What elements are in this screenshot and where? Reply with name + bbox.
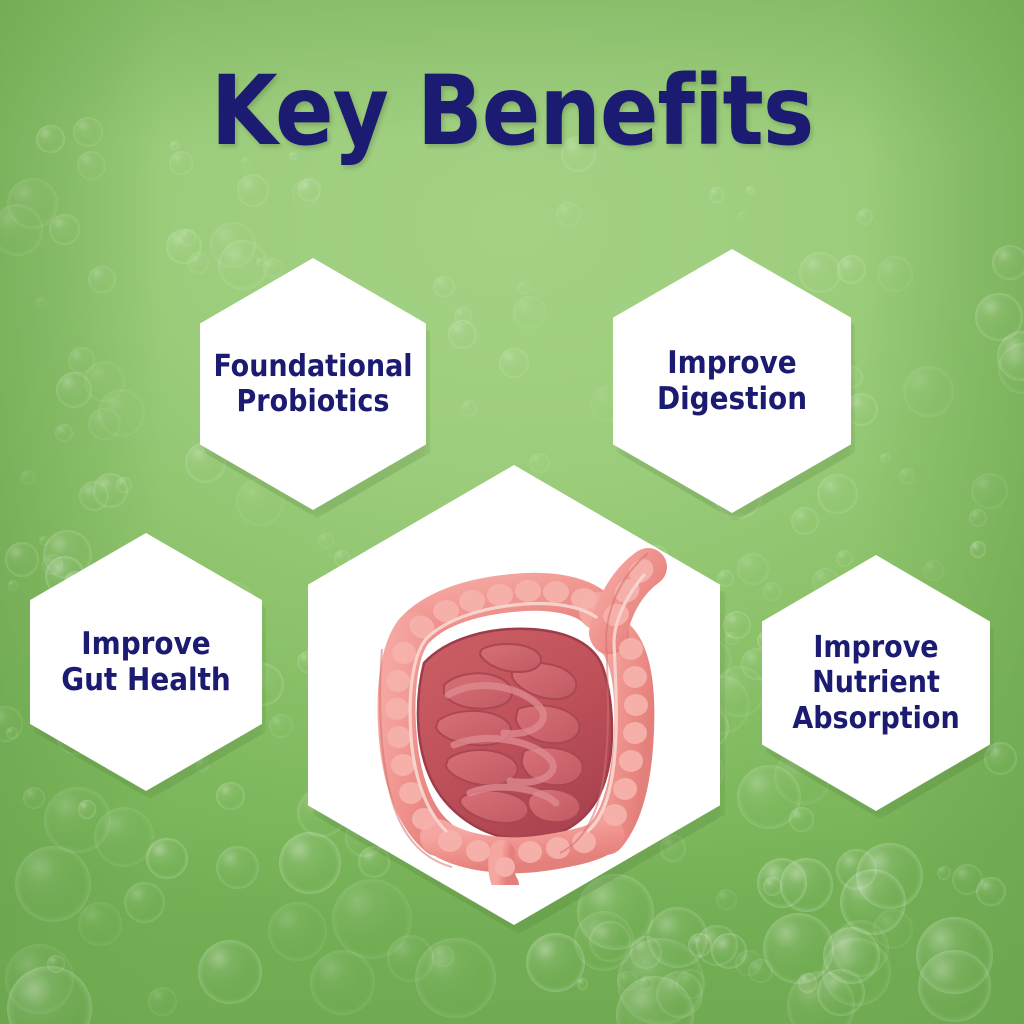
bubble xyxy=(817,474,858,515)
bubble xyxy=(88,266,115,293)
bubble xyxy=(23,787,44,808)
bubble xyxy=(817,969,865,1017)
bubble xyxy=(975,293,1022,340)
bubble xyxy=(499,348,529,378)
bubble xyxy=(837,255,866,284)
bubble xyxy=(877,256,913,292)
bubble xyxy=(318,533,334,549)
bubble xyxy=(857,209,873,225)
bubble xyxy=(116,477,132,493)
bubble xyxy=(166,229,202,265)
bubble xyxy=(763,582,782,601)
benefit-label-improve-gut-health: Improve Gut Health xyxy=(61,626,231,699)
bubble xyxy=(94,807,154,867)
bubble xyxy=(880,453,891,464)
bubble xyxy=(42,554,63,575)
bubble xyxy=(780,858,834,912)
bubble xyxy=(15,846,91,922)
bubble xyxy=(899,468,915,484)
bubble xyxy=(5,944,75,1014)
bubble xyxy=(746,186,755,195)
benefit-label-foundational-probiotics: Foundational Probiotics xyxy=(213,349,412,419)
bubble xyxy=(310,950,375,1015)
bubble xyxy=(789,807,814,832)
bubble xyxy=(738,211,747,220)
bubble xyxy=(8,580,19,591)
bubble xyxy=(461,400,478,417)
bubble xyxy=(98,389,145,436)
bubble xyxy=(124,882,165,923)
bubble xyxy=(269,714,293,738)
bubble xyxy=(21,470,35,484)
bubble xyxy=(992,245,1024,280)
bubble xyxy=(725,632,738,645)
bubble xyxy=(513,296,547,330)
bubble xyxy=(415,938,496,1019)
bubble xyxy=(529,453,550,474)
bubble xyxy=(279,832,341,894)
bubble xyxy=(216,782,244,810)
infographic-canvas: Key Benefits Foundational Probiotics Imp… xyxy=(0,0,1024,1024)
bubble xyxy=(216,846,259,889)
bubble xyxy=(748,959,772,983)
benefit-label-improve-digestion: Improve Digestion xyxy=(657,345,807,418)
bubble xyxy=(5,542,40,577)
bubble xyxy=(763,913,835,985)
bubble xyxy=(799,252,840,293)
bubble xyxy=(937,866,951,880)
bubble xyxy=(791,507,819,535)
bubble xyxy=(970,541,987,558)
bubble xyxy=(918,950,990,1022)
bubble xyxy=(716,889,737,910)
benefit-label-improve-nutrient-absorption: Improve Nutrient Absorption xyxy=(792,630,959,735)
bubble xyxy=(292,179,320,207)
bubble xyxy=(448,320,477,349)
bubble xyxy=(737,553,769,585)
bubble xyxy=(517,281,530,294)
bubble xyxy=(268,902,327,961)
bubble xyxy=(923,560,944,581)
bubble xyxy=(49,214,80,245)
bubble xyxy=(836,849,877,890)
bubble xyxy=(969,509,987,527)
bubble xyxy=(148,987,177,1016)
page-title: Key Benefits xyxy=(0,62,1024,162)
bubble xyxy=(55,424,74,443)
bubble xyxy=(56,372,92,408)
bubble xyxy=(696,925,737,966)
bubble xyxy=(433,276,455,298)
bubble xyxy=(198,940,262,1004)
bubble xyxy=(656,971,703,1018)
bubble xyxy=(237,174,270,207)
bubble xyxy=(78,902,122,946)
bubble xyxy=(709,187,725,203)
bubble xyxy=(577,978,588,989)
bubble xyxy=(36,297,47,308)
bubble xyxy=(146,838,188,880)
bubble xyxy=(976,877,1006,907)
bubble xyxy=(836,550,853,567)
bubble xyxy=(971,473,1007,509)
bubble xyxy=(903,366,954,417)
bubble xyxy=(218,240,269,291)
bubble xyxy=(556,202,581,227)
